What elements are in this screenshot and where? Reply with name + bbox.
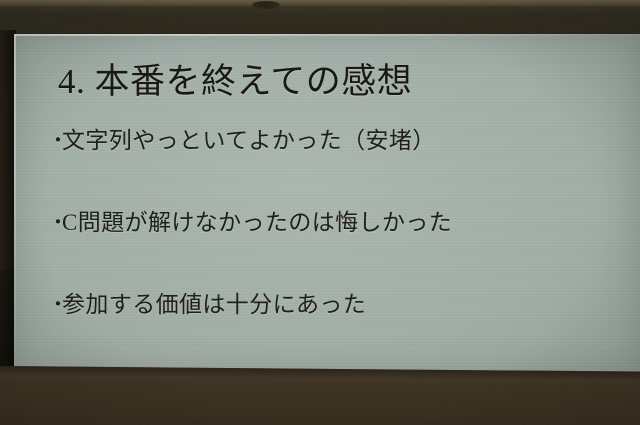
slide-bullet-item: ・ C問題が解けなかったのは悔しかった [48,208,608,238]
slide-bullet-text: 参加する価値は十分にあった [62,290,366,320]
bullet-point-icon: ・ [48,290,62,320]
ceiling-molding-highlight [0,0,640,6]
slide-bullet-item: ・ 文字列やっといてよかった（安堵） [48,126,608,156]
slide-bullet-text: 文字列やっといてよかった（安堵） [62,126,436,156]
slide-content: 4. 本番を終えての感想 ・ 文字列やっといてよかった（安堵） ・ C問題が解け… [14,34,640,374]
slide-bullet-item: ・ 参加する価値は十分にあった [48,290,608,320]
projected-slide-photo: 4. 本番を終えての感想 ・ 文字列やっといてよかった（安堵） ・ C問題が解け… [0,0,640,425]
bullet-point-icon: ・ [48,126,62,156]
slide-bullet-text: C問題が解けなかったのは悔しかった [62,208,452,238]
bullet-point-icon: ・ [48,208,62,238]
ceiling-fixture-blob [252,1,280,9]
slide-title: 4. 本番を終えての感想 [58,60,412,104]
wall-above-screen [0,0,640,36]
slide-bullet-list: ・ 文字列やっといてよかった（安堵） ・ C問題が解けなかったのは悔しかった ・… [48,126,608,320]
